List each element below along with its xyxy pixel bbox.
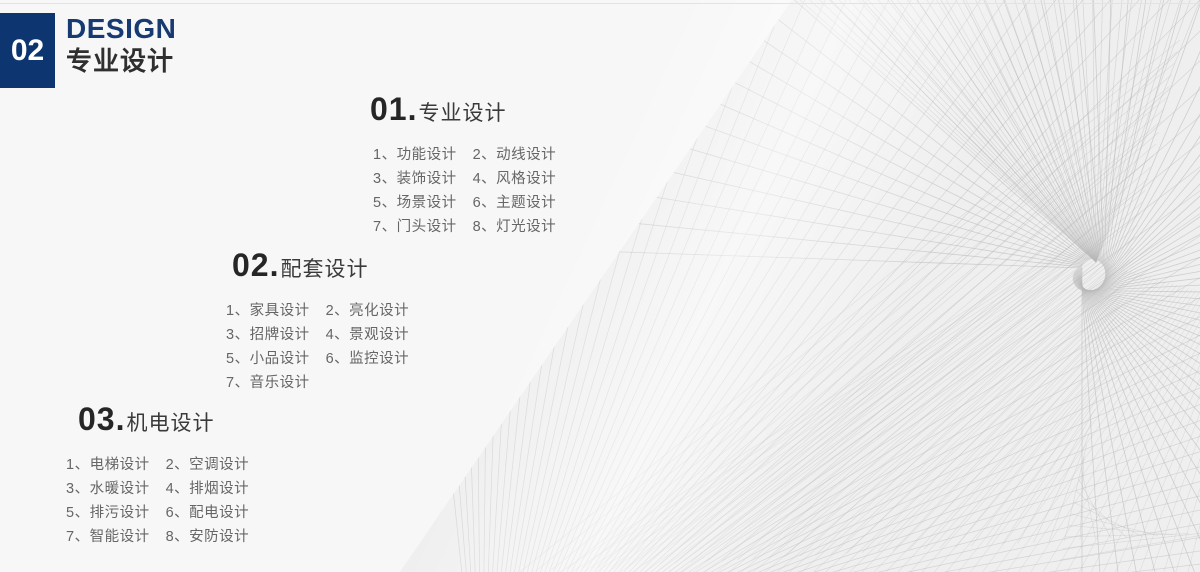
list-item: 1、功能设计 xyxy=(373,143,457,167)
list-row: 1、功能设计2、动线设计 xyxy=(373,143,556,167)
section-heading: 02.配套设计 xyxy=(232,248,409,289)
section-heading: 03.机电设计 xyxy=(78,402,249,443)
list-item: 5、场景设计 xyxy=(373,191,457,215)
section-name: 配套设计 xyxy=(280,258,368,281)
list-row: 5、场景设计6、主题设计 xyxy=(373,191,556,215)
section-dot: . xyxy=(270,247,279,283)
list-item: 4、风格设计 xyxy=(473,167,557,191)
section-number: 02 xyxy=(232,247,270,283)
list-item: 4、景观设计 xyxy=(326,323,410,347)
list-item: 2、亮化设计 xyxy=(326,299,410,323)
list-item: 2、动线设计 xyxy=(473,143,557,167)
list-item: 7、门头设计 xyxy=(373,215,457,239)
item-spacer xyxy=(310,299,326,323)
list-item: 3、水暖设计 xyxy=(66,477,150,501)
item-spacer xyxy=(150,501,166,525)
list-item: 4、排烟设计 xyxy=(166,477,250,501)
list-item: 1、电梯设计 xyxy=(66,453,150,477)
item-spacer xyxy=(457,191,473,215)
section-number-badge: 02 xyxy=(0,13,55,88)
section-item-list: 1、功能设计2、动线设计 3、装饰设计4、风格设计 5、场景设计6、主题设计 7… xyxy=(373,143,556,239)
page-title-block: DESIGN 专业设计 xyxy=(66,14,176,76)
badge-number-label: 02 xyxy=(11,36,44,66)
list-item: 6、监控设计 xyxy=(326,347,410,371)
content-section-02: 02.配套设计 1、家具设计2、亮化设计 3、招牌设计4、景观设计 5、小品设计… xyxy=(232,248,409,395)
section-item-list: 1、电梯设计2、空调设计 3、水暖设计4、排烟设计 5、排污设计6、配电设计 7… xyxy=(66,453,249,549)
item-spacer xyxy=(310,323,326,347)
list-item: 8、灯光设计 xyxy=(473,215,557,239)
section-number: 03 xyxy=(78,401,116,437)
list-row: 3、招牌设计4、景观设计 xyxy=(226,323,409,347)
section-name: 专业设计 xyxy=(418,102,506,125)
list-item: 6、配电设计 xyxy=(166,501,250,525)
item-spacer xyxy=(457,167,473,191)
section-dot: . xyxy=(408,91,417,127)
list-item: 5、排污设计 xyxy=(66,501,150,525)
item-spacer xyxy=(150,477,166,501)
list-row: 5、排污设计6、配电设计 xyxy=(66,501,249,525)
list-row: 7、智能设计8、安防设计 xyxy=(66,525,249,549)
list-item: 2、空调设计 xyxy=(166,453,250,477)
list-item: 3、招牌设计 xyxy=(226,323,310,347)
list-row: 1、家具设计2、亮化设计 xyxy=(226,299,409,323)
section-item-list: 1、家具设计2、亮化设计 3、招牌设计4、景观设计 5、小品设计6、监控设计 7… xyxy=(226,299,409,395)
section-heading: 01.专业设计 xyxy=(370,92,556,133)
list-item: 5、小品设计 xyxy=(226,347,310,371)
list-row: 3、水暖设计4、排烟设计 xyxy=(66,477,249,501)
list-row: 5、小品设计6、监控设计 xyxy=(226,347,409,371)
item-spacer xyxy=(457,215,473,239)
list-item: 7、智能设计 xyxy=(66,525,150,549)
list-item: 1、家具设计 xyxy=(226,299,310,323)
content-section-03: 03.机电设计 1、电梯设计2、空调设计 3、水暖设计4、排烟设计 5、排污设计… xyxy=(78,402,249,549)
item-spacer xyxy=(310,347,326,371)
top-divider-rule xyxy=(0,3,1200,4)
content-section-01: 01.专业设计 1、功能设计2、动线设计 3、装饰设计4、风格设计 5、场景设计… xyxy=(370,92,556,239)
list-row: 7、音乐设计 xyxy=(226,371,409,395)
list-item: 6、主题设计 xyxy=(473,191,557,215)
slide-canvas: 02 DESIGN 专业设计 01.专业设计 1、功能设计2、动线设计 3、装饰… xyxy=(0,0,1200,572)
item-spacer xyxy=(310,371,326,395)
item-spacer xyxy=(457,143,473,167)
list-row: 1、电梯设计2、空调设计 xyxy=(66,453,249,477)
list-item: 7、音乐设计 xyxy=(226,371,310,395)
section-number: 01 xyxy=(370,91,408,127)
page-title-english: DESIGN xyxy=(66,14,176,44)
list-item: 8、安防设计 xyxy=(166,525,250,549)
section-dot: . xyxy=(116,401,125,437)
page-title-chinese: 专业设计 xyxy=(66,46,176,76)
list-row: 7、门头设计8、灯光设计 xyxy=(373,215,556,239)
item-spacer xyxy=(150,453,166,477)
list-item: 3、装饰设计 xyxy=(373,167,457,191)
list-row: 3、装饰设计4、风格设计 xyxy=(373,167,556,191)
section-name: 机电设计 xyxy=(126,412,214,435)
item-spacer xyxy=(150,525,166,549)
